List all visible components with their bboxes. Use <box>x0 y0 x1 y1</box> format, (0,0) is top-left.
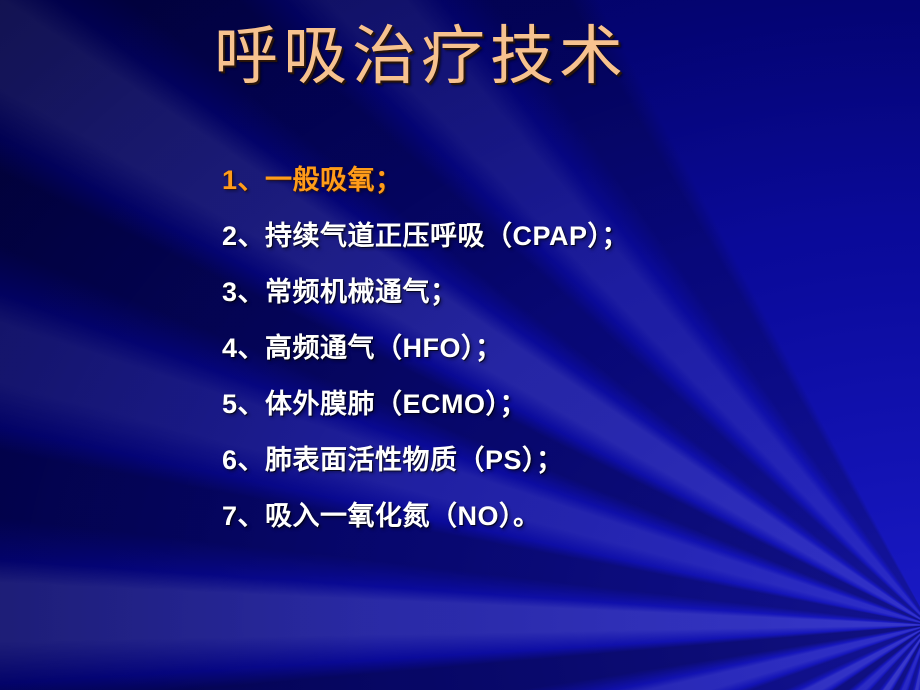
slide-content: 呼吸治疗技术 1、一般吸氧； 2、持续气道正压呼吸（CPAP）； 3、常频机械通… <box>0 0 920 690</box>
slide-title: 呼吸治疗技术 <box>0 22 920 91</box>
list-item: 5、体外膜肺（ECMO）； <box>222 376 880 432</box>
list-item: 3、常频机械通气； <box>222 264 880 320</box>
list-item: 1、一般吸氧； <box>222 152 880 208</box>
list-item: 4、高频通气（HFO）； <box>222 320 880 376</box>
list-item: 7、吸入一氧化氮（NO）。 <box>222 488 880 544</box>
list-item: 6、肺表面活性物质（PS）； <box>222 432 880 488</box>
topic-list: 1、一般吸氧； 2、持续气道正压呼吸（CPAP）； 3、常频机械通气； 4、高频… <box>222 152 880 544</box>
list-item: 2、持续气道正压呼吸（CPAP）； <box>222 208 880 264</box>
presentation-slide: 呼吸治疗技术 1、一般吸氧； 2、持续气道正压呼吸（CPAP）； 3、常频机械通… <box>0 0 920 690</box>
